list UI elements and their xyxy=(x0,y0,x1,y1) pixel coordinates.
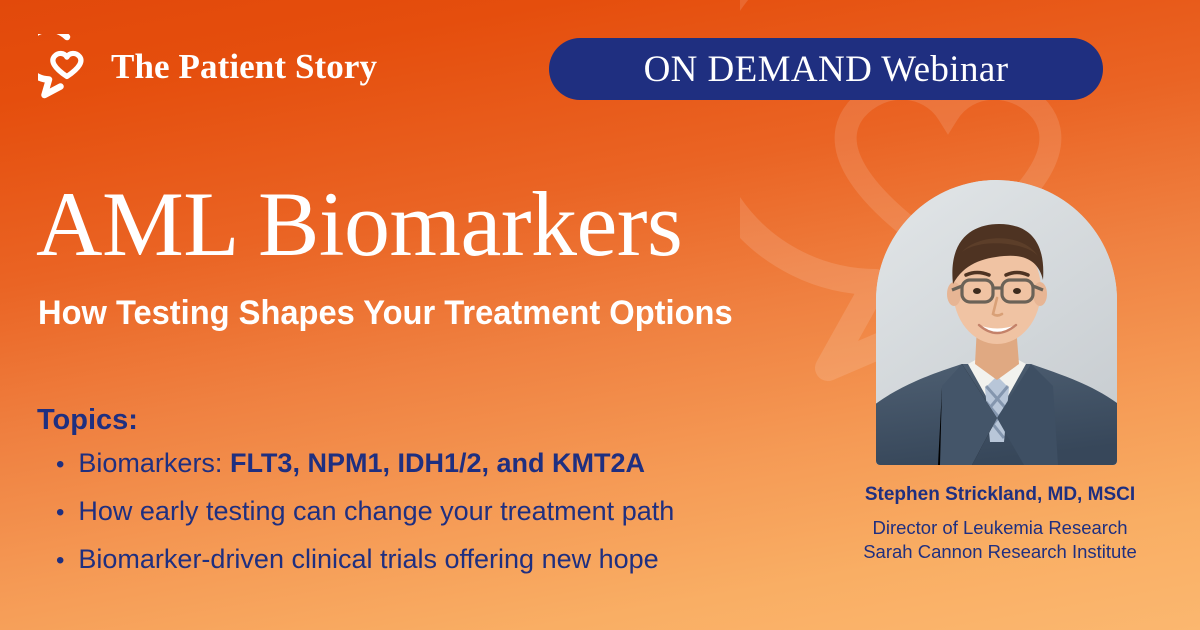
topic-list-item: •Biomarker-driven clinical trials offeri… xyxy=(56,543,674,577)
speech-bubble-heart-icon xyxy=(38,34,96,100)
topic-text: Biomarkers: FLT3, NPM1, IDH1/2, and KMT2… xyxy=(78,447,645,481)
topic-text: How early testing can change your treatm… xyxy=(78,495,674,529)
bullet-icon: • xyxy=(56,549,64,573)
speaker-affiliation: Sarah Cannon Research Institute xyxy=(838,540,1162,565)
speaker-photo xyxy=(876,180,1117,465)
bullet-icon: • xyxy=(56,501,64,525)
webinar-promo-banner: The Patient Story ON DEMAND Webinar AML … xyxy=(0,0,1200,630)
bullet-icon: • xyxy=(56,453,64,477)
topics-heading: Topics: xyxy=(37,404,138,437)
topic-list-item: •Biomarkers: FLT3, NPM1, IDH1/2, and KMT… xyxy=(56,447,674,481)
on-demand-webinar-badge[interactable]: ON DEMAND Webinar xyxy=(549,38,1103,100)
brand-logo[interactable]: The Patient Story xyxy=(38,34,377,100)
speaker-title: Director of Leukemia Research xyxy=(838,516,1162,541)
badge-label: ON DEMAND Webinar xyxy=(644,48,1009,91)
page-title: AML Biomarkers xyxy=(36,178,682,270)
topic-emphasis: FLT3, NPM1, IDH1/2, and KMT2A xyxy=(230,448,645,478)
speaker-credits: Stephen Strickland, MD, MSCI Director of… xyxy=(838,483,1162,565)
brand-name: The Patient Story xyxy=(111,47,377,87)
topics-list: •Biomarkers: FLT3, NPM1, IDH1/2, and KMT… xyxy=(56,447,674,590)
page-subtitle: How Testing Shapes Your Treatment Option… xyxy=(38,295,733,332)
topic-text: Biomarker-driven clinical trials offerin… xyxy=(78,543,658,577)
speaker-name: Stephen Strickland, MD, MSCI xyxy=(838,483,1162,508)
topic-list-item: •How early testing can change your treat… xyxy=(56,495,674,529)
